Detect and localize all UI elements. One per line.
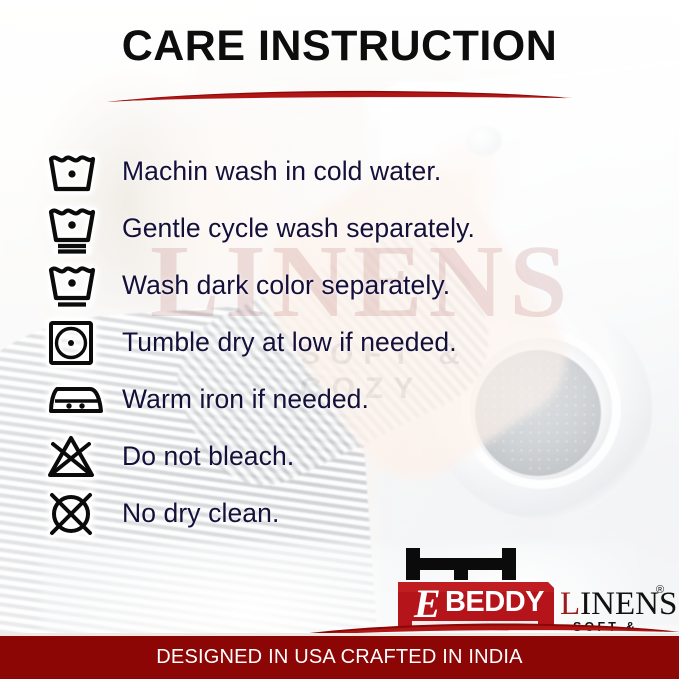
instruction-text: Machin wash in cold water. <box>122 156 441 187</box>
instruction-text: Do not bleach. <box>122 441 294 472</box>
machine-wash-icon <box>44 150 122 194</box>
instruction-text: Warm iron if needed. <box>122 384 369 415</box>
tumble-dry-low-icon <box>44 318 122 368</box>
instruction-row: No dry clean. <box>44 485 644 542</box>
instruction-text: No dry clean. <box>122 498 279 529</box>
logo-secondary-brand-initial: L <box>560 586 580 622</box>
instruction-row: Machin wash in cold water. <box>44 143 644 200</box>
bed-icon <box>406 544 516 586</box>
instruction-row: Warm iron if needed. <box>44 371 644 428</box>
instruction-row: Wash dark color separately. <box>44 257 644 314</box>
instruction-text: Wash dark color separately. <box>122 270 450 301</box>
warm-iron-icon <box>44 379 122 421</box>
instruction-row: Tumble dry at low if needed. <box>44 314 644 371</box>
page-title: CARE INSTRUCTION <box>0 22 679 71</box>
wash-separately-icon <box>44 261 122 311</box>
instruction-text: Tumble dry at low if needed. <box>122 327 457 358</box>
instruction-text: Gentle cycle wash separately. <box>122 213 475 244</box>
do-not-bleach-icon <box>44 433 122 481</box>
registered-trademark-mark: ® <box>656 584 664 596</box>
footer-bar: DESIGNED IN USA CRAFTED IN INDIA <box>0 633 679 679</box>
care-instruction-card: LINENS SOFT & COZY CARE INSTRUCTION Mach… <box>0 0 679 679</box>
title-swoosh-divider <box>105 86 575 104</box>
instruction-list: Machin wash in cold water. <box>44 143 644 542</box>
gentle-cycle-wash-icon <box>44 203 122 255</box>
header: CARE INSTRUCTION <box>0 0 679 104</box>
no-dry-clean-icon <box>44 489 122 539</box>
footer-text: DESIGNED IN USA CRAFTED IN INDIA <box>156 646 522 669</box>
instruction-row: Gentle cycle wash separately. <box>44 200 644 257</box>
instruction-row: Do not bleach. <box>44 428 644 485</box>
